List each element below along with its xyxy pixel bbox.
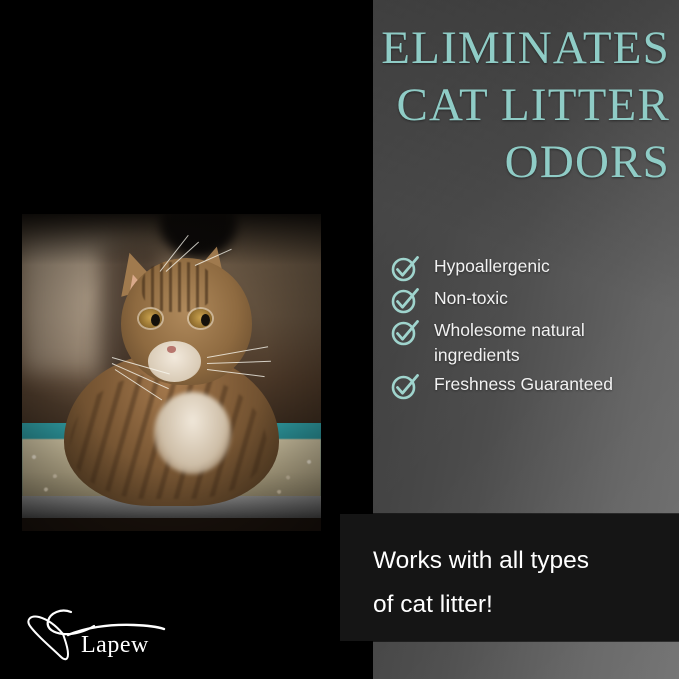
list-item: Non-toxic <box>390 284 675 314</box>
product-photo <box>22 214 321 531</box>
kitten-chest <box>154 392 232 474</box>
product-poster: ELIMINATES CAT LITTER ODORS Hypoallergen… <box>0 0 679 679</box>
headline-line-1: ELIMINATES <box>250 20 670 77</box>
check-circle-icon <box>390 317 420 346</box>
callout-line-2: of cat litter! <box>373 583 663 627</box>
check-circle-icon <box>390 285 420 314</box>
list-item: Hypoallergenic <box>390 252 675 282</box>
brand-name: Lapew <box>81 632 149 659</box>
feature-list: Hypoallergenic Non-toxic Wholesome natur… <box>390 252 675 402</box>
callout-text: Works with all types of cat litter! <box>373 539 663 627</box>
feature-label: Non-toxic <box>434 284 508 311</box>
list-item: Wholesome natural ingredients <box>390 316 675 368</box>
page-title: ELIMINATES CAT LITTER ODORS <box>250 20 670 191</box>
feature-label: Wholesome natural ingredients <box>434 316 675 368</box>
check-circle-icon <box>390 253 420 282</box>
list-item: Freshness Guaranteed <box>390 370 675 400</box>
kitten-pupil-left <box>151 314 160 326</box>
feature-label: Freshness Guaranteed <box>434 370 613 397</box>
kitten-illustration <box>22 214 321 531</box>
callout-line-1: Works with all types <box>373 539 663 583</box>
check-circle-icon <box>390 371 420 400</box>
kitten-nose <box>167 346 176 353</box>
kitten-head-stripes <box>142 262 214 313</box>
feature-label: Hypoallergenic <box>434 252 550 279</box>
brand-logo: Lapew <box>24 604 184 666</box>
headline-line-2: CAT LITTER <box>250 77 670 134</box>
headline-line-3: ODORS <box>250 134 670 191</box>
callout-box: Works with all types of cat litter! <box>340 514 679 641</box>
